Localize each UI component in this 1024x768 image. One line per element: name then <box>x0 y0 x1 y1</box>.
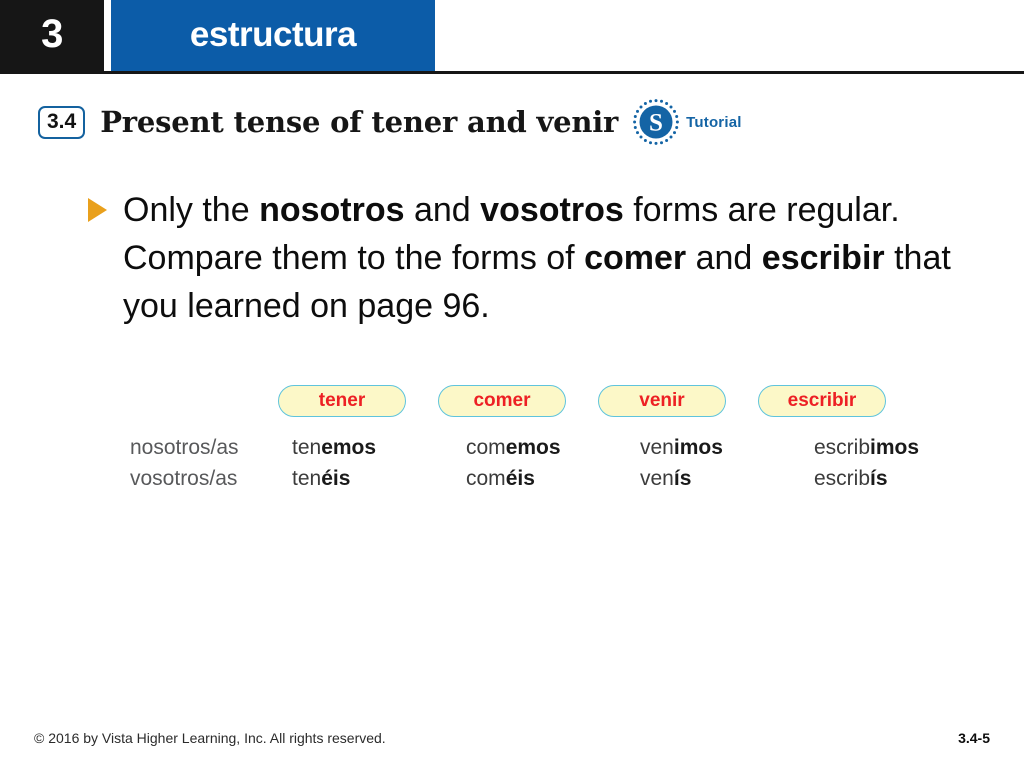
cell-vosotros-escribir: escribís <box>800 465 974 493</box>
cell-nosotros-tener: tenemos <box>278 434 452 462</box>
section-label: estructura <box>111 15 435 55</box>
slide-footer: © 2016 by Vista Higher Learning, Inc. Al… <box>0 728 1024 752</box>
column-header-tener: tener <box>278 385 438 417</box>
title-verb-venir: venir <box>536 105 618 139</box>
page-title: Present tense of tener and venir <box>100 105 618 139</box>
bullet-block: Only the nosotros and vosotros forms are… <box>88 186 968 330</box>
verb-pill-venir: venir <box>598 385 726 417</box>
chapter-number: 3 <box>0 12 104 56</box>
stem: ven <box>640 467 674 490</box>
section-banner: estructura <box>111 0 435 71</box>
ending: emos <box>506 436 561 459</box>
tutorial-s-icon[interactable]: S <box>632 98 680 146</box>
cell-vosotros-tener: tenéis <box>278 465 452 493</box>
column-header-comer: comer <box>438 385 598 417</box>
cell-nosotros-comer: comemos <box>452 434 626 462</box>
column-header-venir: venir <box>598 385 758 417</box>
bullet-term-vosotros: vosotros <box>480 191 624 229</box>
ending: éis <box>321 467 350 490</box>
ending: imos <box>674 436 723 459</box>
bullet-text-3: forms are <box>624 191 777 229</box>
verb-pill-comer: comer <box>438 385 566 417</box>
bullet-text-5: and <box>696 239 762 277</box>
cell-nosotros-venir: venimos <box>626 434 800 462</box>
stem: com <box>466 436 506 459</box>
table-gap <box>130 420 920 434</box>
stem: ven <box>640 436 674 459</box>
cell-vosotros-venir: venís <box>626 465 800 493</box>
row-label-nosotros: nosotros/as <box>130 434 278 462</box>
bullet-text-2: and <box>405 191 481 229</box>
ending: ís <box>674 467 692 490</box>
bullet-text-1: Only the <box>123 191 259 229</box>
stem: ten <box>292 467 321 490</box>
bullet-term-comer: comer <box>584 239 686 277</box>
cell-vosotros-comer: coméis <box>452 465 626 493</box>
ending: éis <box>506 467 535 490</box>
copyright-notice: © 2016 by Vista Higher Learning, Inc. Al… <box>34 728 386 748</box>
bullet-term-escribir: escribir <box>762 239 885 277</box>
verb-pill-escribir: escribir <box>758 385 886 417</box>
table-row: vosotros/as tenéis coméis venís escribís <box>130 465 920 496</box>
svg-text:S: S <box>649 110 663 137</box>
title-conjunction: and <box>457 105 536 139</box>
table-header-row: tener comer venir escribir <box>130 382 920 420</box>
slide-header: 3 estructura <box>0 0 1024 71</box>
stem: ten <box>292 436 321 459</box>
title-verb-tener: tener <box>371 105 457 139</box>
table-row: nosotros/as tenemos comemos venimos escr… <box>130 434 920 465</box>
ending: ís <box>870 467 888 490</box>
stem: escrib <box>814 467 870 490</box>
section-number-badge: 3.4 <box>38 106 85 139</box>
verb-pill-tener: tener <box>278 385 406 417</box>
title-row: 3.4 Present tense of tener and venir S <box>38 96 742 148</box>
triangle-bullet-icon <box>88 198 107 222</box>
stem: com <box>466 467 506 490</box>
bullet-paragraph: Only the nosotros and vosotros forms are… <box>123 186 953 330</box>
tutorial-label[interactable]: Tutorial <box>686 114 741 131</box>
ending: emos <box>321 436 376 459</box>
row-label-vosotros: vosotros/as <box>130 465 278 493</box>
page-number: 3.4-5 <box>958 728 990 748</box>
ending: imos <box>870 436 919 459</box>
tutorial-link[interactable]: S Tutorial <box>632 98 741 146</box>
header-divider <box>0 71 1024 74</box>
chapter-badge: 3 <box>0 0 104 71</box>
title-prefix: Present tense of <box>100 105 371 139</box>
stem: escrib <box>814 436 870 459</box>
bullet-term-nosotros: nosotros <box>259 191 404 229</box>
cell-nosotros-escribir: escribimos <box>800 434 974 462</box>
conjugation-table: tener comer venir escribir nosotros/as t… <box>130 382 920 496</box>
column-header-escribir: escribir <box>758 385 918 417</box>
